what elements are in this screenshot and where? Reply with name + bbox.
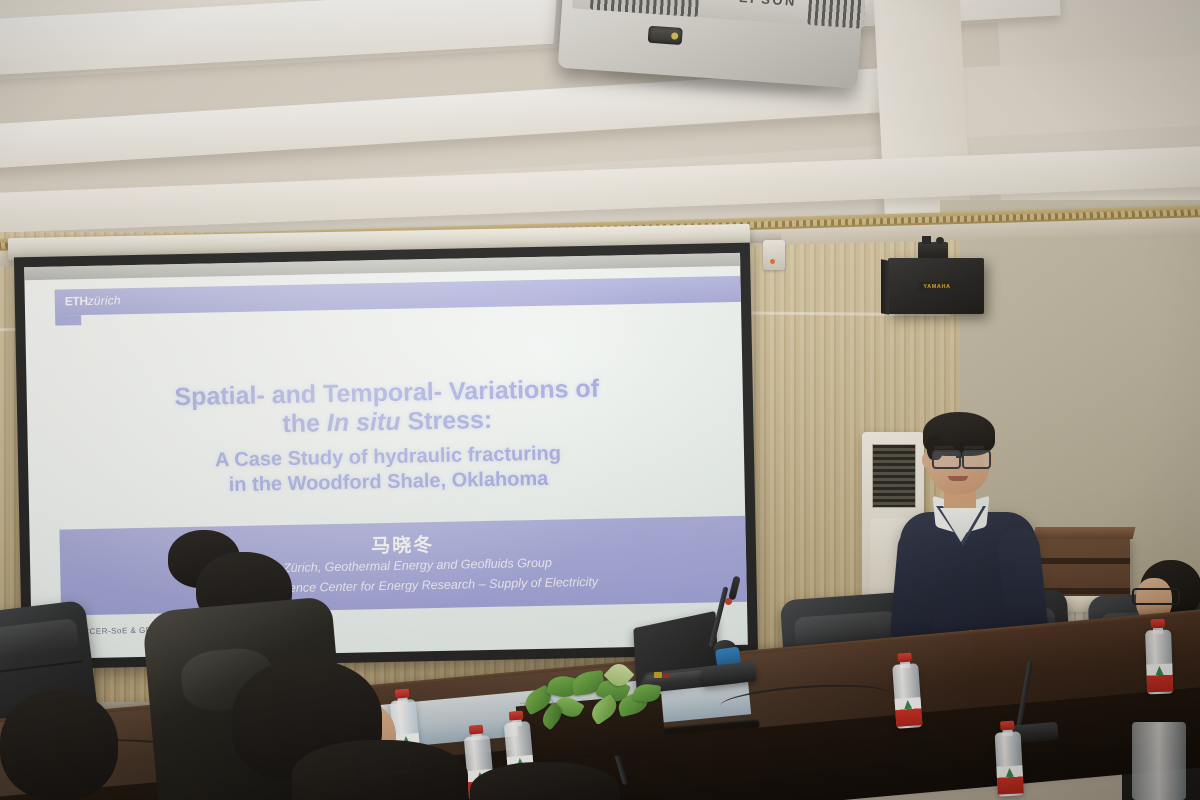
microphone-indicator-light — [725, 598, 732, 605]
bottle-cap — [1000, 721, 1014, 731]
projection-screen-surface: ETHzürich Spatial- and Temporal- Variati… — [24, 253, 748, 659]
bottle-cap — [395, 689, 410, 699]
eyeglasses-icon — [962, 450, 991, 469]
bottle-body — [892, 663, 922, 729]
presentation-slide: ETHzürich Spatial- and Temporal- Variati… — [24, 266, 747, 659]
chair-seam — [0, 660, 83, 673]
bottle-label — [1146, 664, 1173, 693]
bottle-cap — [1151, 619, 1165, 628]
wall-sensor-icon — [763, 240, 785, 270]
bottle-cap — [469, 725, 484, 735]
eth-logo-italic: zürich — [88, 293, 121, 308]
speaker-side-panel — [881, 259, 889, 315]
eth-zurich-logo: ETHzürich — [65, 293, 121, 308]
speaker-brand-badge: YAMAHA — [918, 282, 956, 291]
speaker-brand-label: YAMAHA — [923, 284, 950, 290]
bottle-icon — [994, 721, 1024, 796]
eyeglasses-icon — [932, 450, 961, 469]
slide-title: Spatial- and Temporal- Variations of the… — [67, 373, 708, 444]
bottle-label — [895, 697, 923, 727]
slide-title-prefix: the — [282, 409, 327, 438]
projection-screen: ETHzürich Spatial- and Temporal- Variati… — [14, 243, 758, 670]
slide-author-band: 马晓冬 ETH Zürich, Geothermal Energy and Ge… — [59, 516, 747, 616]
ceiling-recess — [958, 52, 1200, 138]
laptop-port-indicator — [654, 672, 662, 678]
glass-icon — [1132, 722, 1186, 800]
slide-title-italic: In situ — [327, 408, 401, 437]
audience-head — [0, 690, 118, 800]
presenter-eyebrow-right — [964, 446, 984, 449]
bottle-icon — [1145, 620, 1174, 695]
bottle-cap — [897, 653, 912, 663]
laptop-port-indicator — [663, 673, 670, 678]
slide-title-suffix: Stress: — [400, 406, 492, 436]
eyeglasses-bridge — [956, 456, 964, 458]
slide-header-bar — [55, 276, 741, 316]
eyeglasses-icon — [1132, 588, 1180, 605]
wall-speaker: YAMAHA — [888, 258, 984, 314]
presenter-eyebrow-left — [934, 446, 954, 449]
bottle-body — [1145, 630, 1173, 695]
eth-logo-bold: ETH — [65, 294, 88, 308]
projector-lens-icon — [648, 26, 683, 45]
bottle-icon — [891, 653, 922, 729]
slide-subtitle: A Case Study of hydraulic fracturing in … — [68, 439, 709, 502]
conference-room-photo: EPSON YAMAHA ETHzürich — [0, 0, 1200, 800]
bottle-body — [995, 731, 1024, 796]
bottle-label — [996, 765, 1023, 794]
slide-header-step — [55, 315, 81, 326]
projector-vent-icon — [590, 0, 700, 17]
bottle-cap — [509, 711, 524, 721]
presenter-mouth — [948, 476, 968, 481]
